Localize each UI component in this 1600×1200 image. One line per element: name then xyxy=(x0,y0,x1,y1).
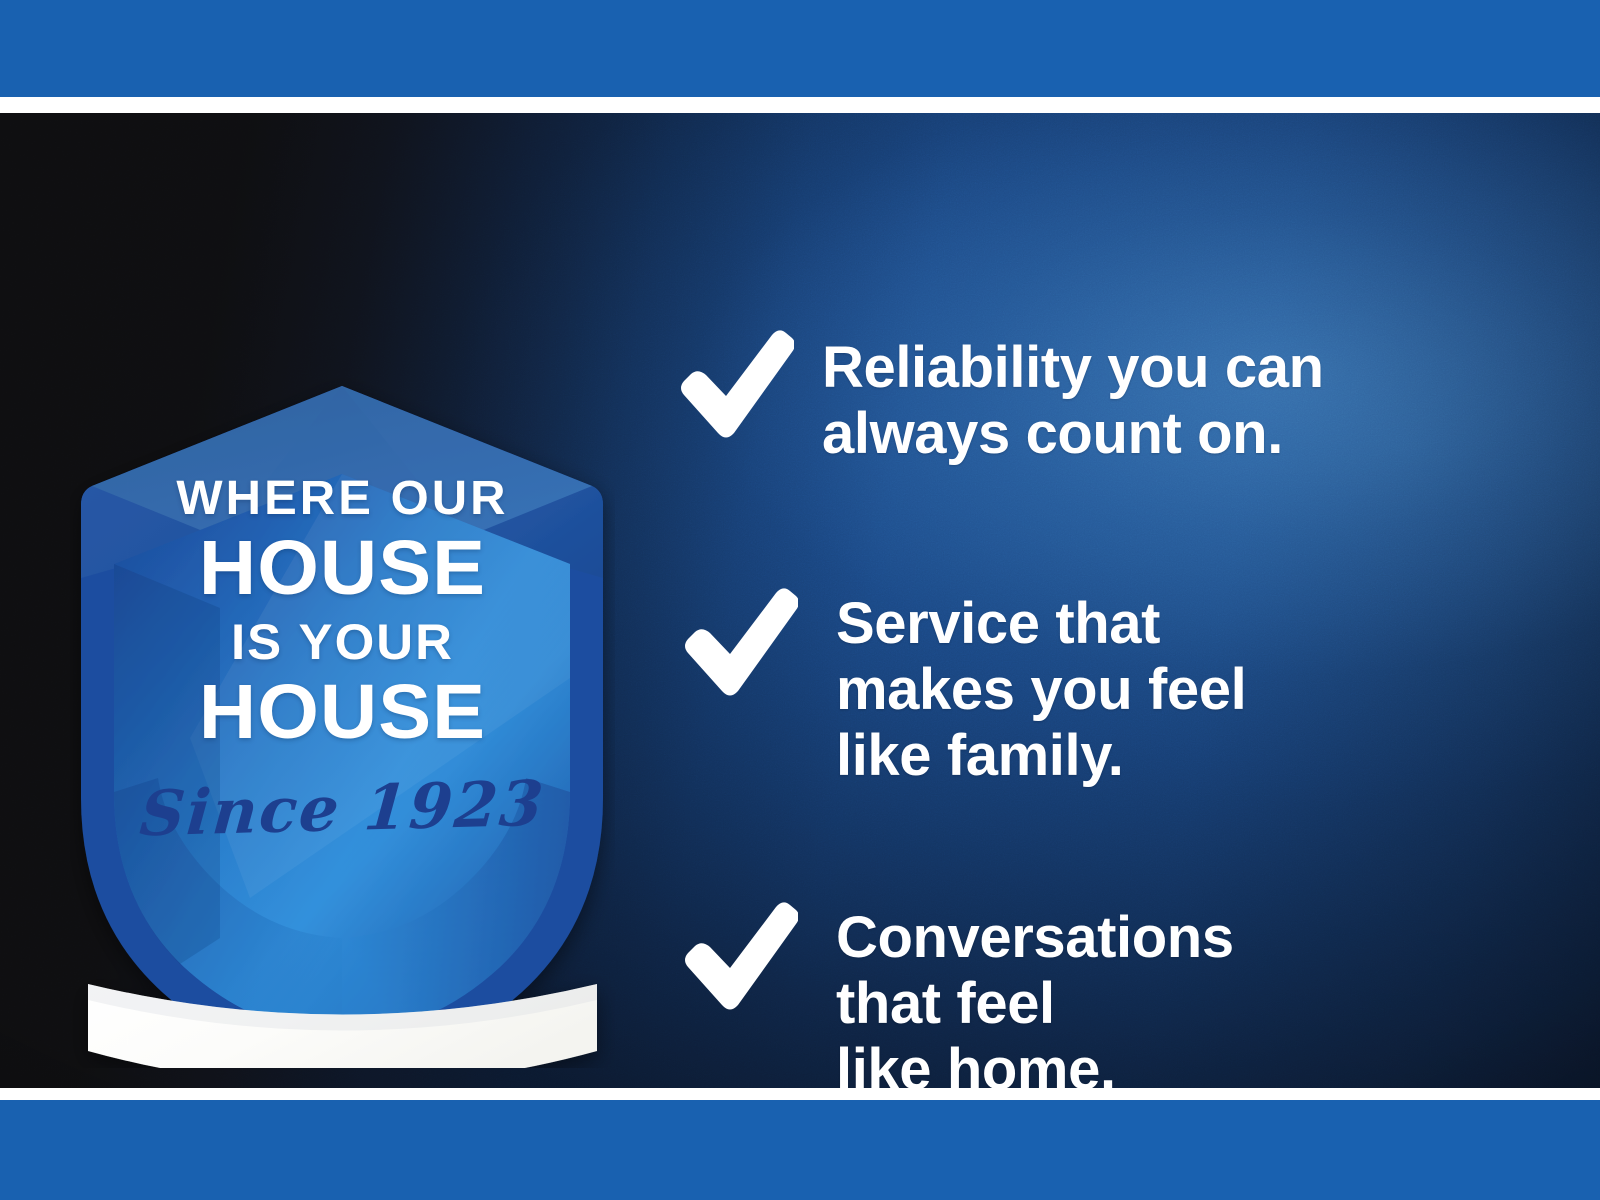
checkmark-icon xyxy=(680,587,810,699)
logo-shield: WHERE OUR HOUSE IS YOUR HOUSE Since 1923 xyxy=(70,378,615,1068)
benefit-item-2: Service that makes you feel like family. xyxy=(680,585,1246,788)
benefit-item-1: Reliability you can always count on. xyxy=(676,327,1324,467)
main-panel: WHERE OUR HOUSE IS YOUR HOUSE Since 1923… xyxy=(0,113,1600,1088)
benefit-item-3: Conversations that feel like home. xyxy=(680,899,1234,1088)
checkmark-icon xyxy=(680,901,810,1013)
checkmark-icon xyxy=(676,329,806,441)
promo-graphic: WHERE OUR HOUSE IS YOUR HOUSE Since 1923… xyxy=(0,0,1600,1200)
benefit-text-2: Service that makes you feel like family. xyxy=(836,585,1246,788)
bottom-brand-band xyxy=(0,1100,1600,1200)
benefit-text-1: Reliability you can always count on. xyxy=(822,327,1324,467)
benefit-text-3: Conversations that feel like home. xyxy=(836,899,1234,1088)
top-brand-band xyxy=(0,0,1600,97)
